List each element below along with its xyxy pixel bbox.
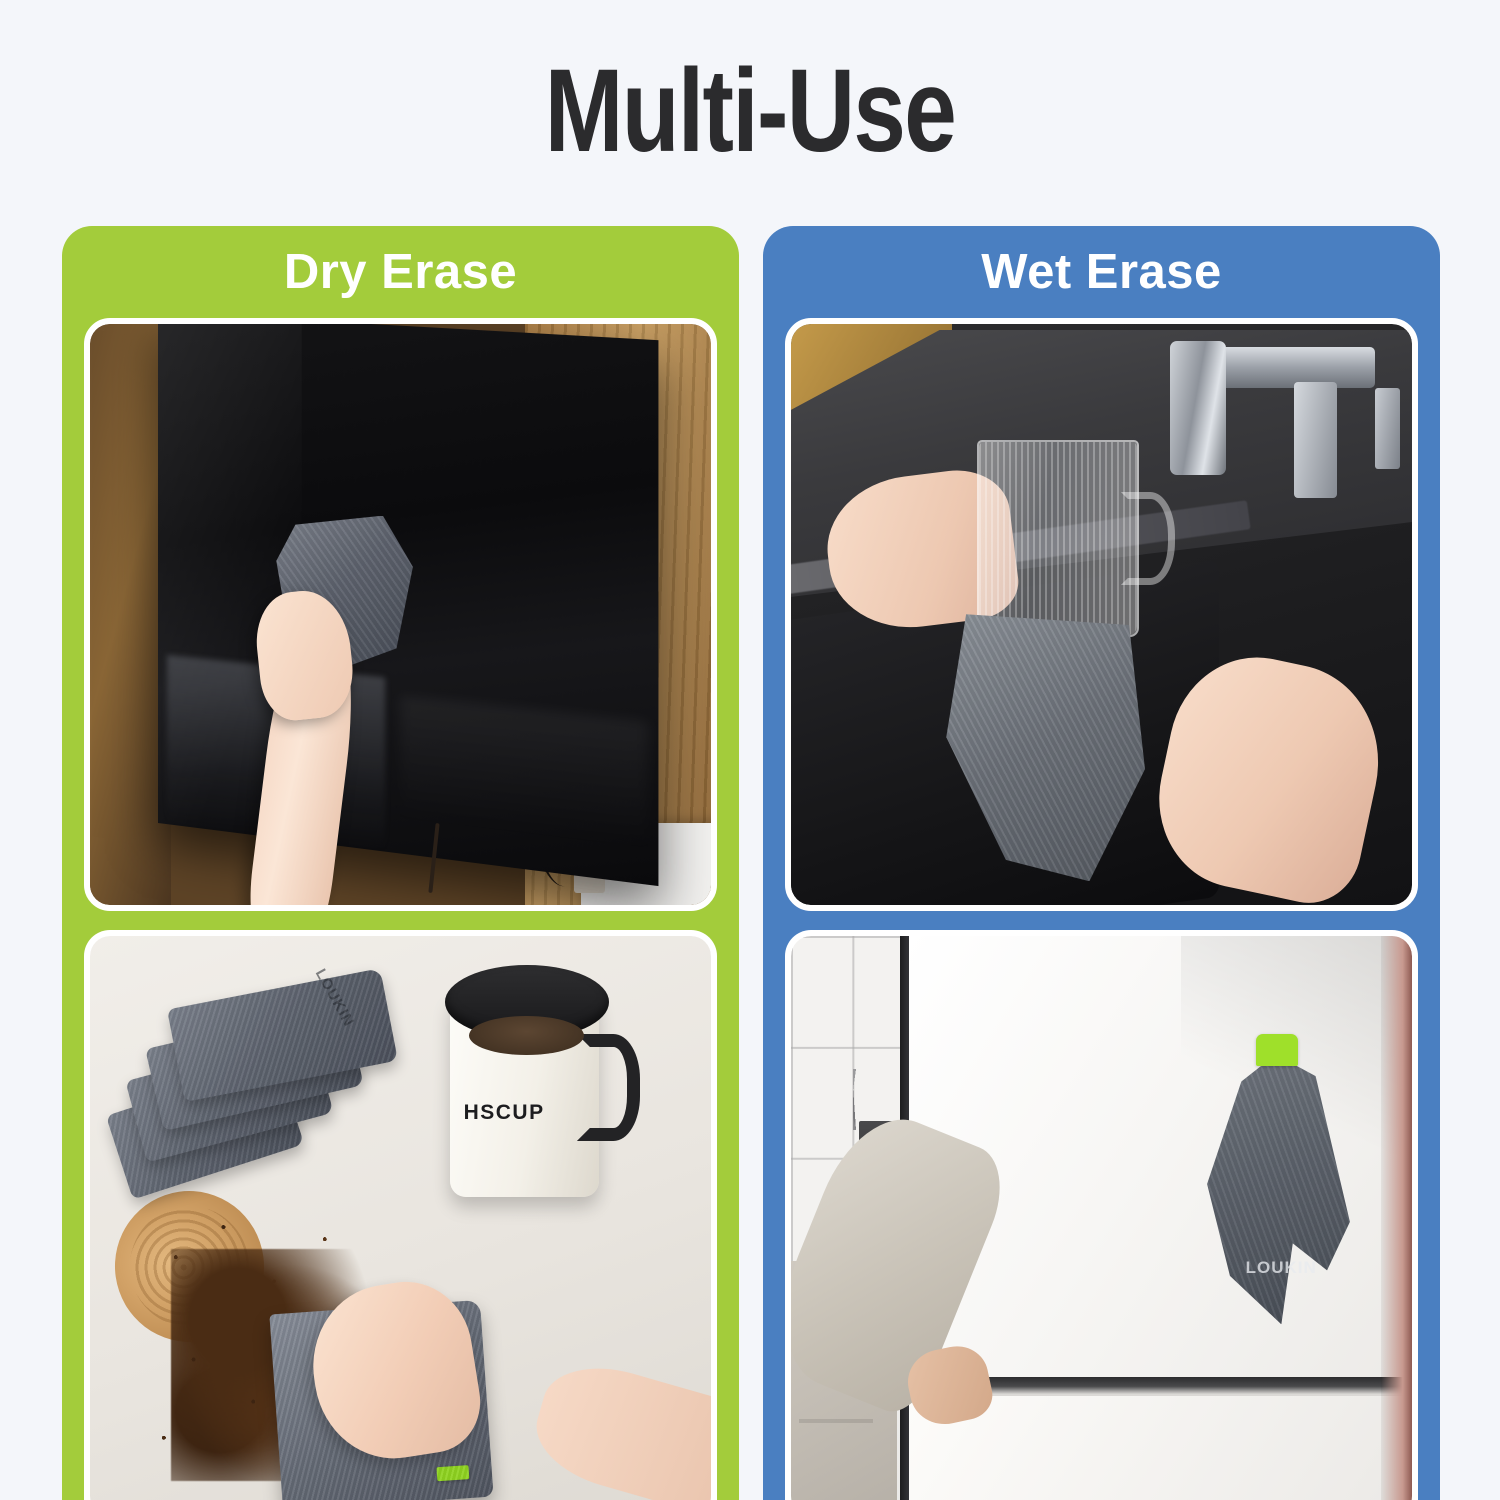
panel-heading-wet-erase: Wet Erase (763, 226, 1440, 318)
magnetic-towel: LOUKIN (1207, 1034, 1350, 1324)
faucet-spout (1170, 341, 1226, 475)
panel-wet-erase: Wet Erase (763, 226, 1440, 1500)
person-forearm (525, 1352, 711, 1500)
photo-card-glass-mug-dry (785, 318, 1418, 911)
photo-card-fridge-magnet-towel: LOUKIN (785, 930, 1418, 1500)
photo-fridge-magnet-towel: LOUKIN (791, 936, 1412, 1500)
brand-logo-embroidered: LOUKIN (1246, 1258, 1317, 1278)
faucet-body (1294, 382, 1337, 498)
green-tag (437, 1465, 470, 1481)
tv-screen (158, 324, 658, 886)
panels-container: Dry Erase (62, 226, 1440, 1500)
green-magnet-corner (1256, 1034, 1299, 1066)
panel-photos-wet-erase: LOUKIN (763, 318, 1440, 1500)
page-title: Multi-Use (150, 52, 1350, 170)
coffee-liquid (469, 1016, 585, 1055)
photo-glass-mug-dry (791, 324, 1412, 905)
coffee-mug: HSCUP (450, 965, 636, 1197)
photo-coffee-grounds-wipe: LOUKIN HSCUP (90, 936, 711, 1500)
towel-cloth (1207, 1054, 1350, 1324)
panel-heading-dry-erase: Dry Erase (62, 226, 739, 318)
photo-tv-screen-wipe (90, 324, 711, 905)
glass-mug-handle (1121, 492, 1175, 585)
fridge-right-edge (1381, 936, 1412, 1500)
faucet-handle (1375, 388, 1400, 469)
folded-towel: LOUKIN (167, 968, 398, 1102)
photo-card-tv-screen-wipe (84, 318, 717, 911)
mug-label: HSCUP (464, 1101, 545, 1125)
panel-dry-erase: Dry Erase (62, 226, 739, 1500)
glass-mug (977, 440, 1138, 637)
brand-logo-embossed: LOUKIN (311, 966, 357, 1030)
panel-photos-dry-erase: LOUKIN HSCUP (62, 318, 739, 1500)
mug-handle (577, 1034, 640, 1141)
photo-card-coffee-grounds-wipe: LOUKIN HSCUP (84, 930, 717, 1500)
